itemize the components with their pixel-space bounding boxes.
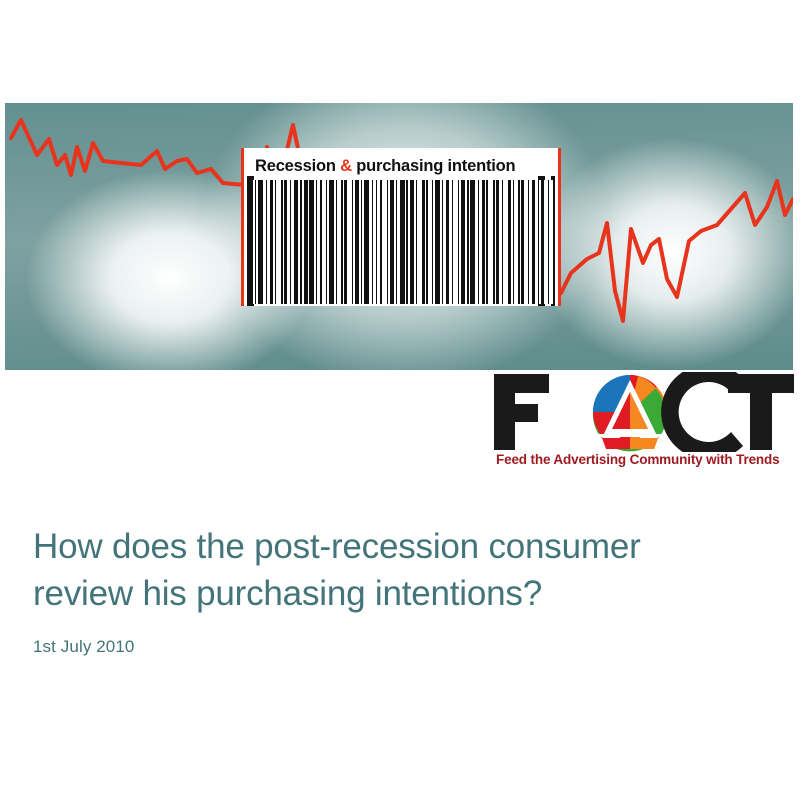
barcode-title-part2: purchasing intention <box>352 157 516 175</box>
page-title: How does the post-recession consumer rev… <box>33 524 763 617</box>
barcode-left-red-edge <box>241 148 244 306</box>
barcode-title-ampersand: & <box>340 157 352 175</box>
logo-letter-t <box>728 374 794 450</box>
page-title-line-2: review his purchasing intentions? <box>33 574 542 613</box>
logo-letter-a-circle <box>593 375 667 451</box>
barcode-bar-group <box>249 180 553 304</box>
fact-logo: Feed the Advertising Community with Tren… <box>490 372 796 476</box>
hero-banner: Recession & purchasing intention <box>5 103 793 370</box>
page-title-line-1: How does the post-recession consumer <box>33 527 641 566</box>
barcode-space <box>549 180 553 304</box>
barcode-right-red-edge <box>558 148 561 306</box>
barcode-title: Recession & purchasing intention <box>255 153 551 179</box>
fact-logo-mark <box>490 372 796 452</box>
barcode-title-part1: Recession <box>255 157 340 175</box>
title-block: How does the post-recession consumer rev… <box>33 524 763 657</box>
fact-logo-tagline: Feed the Advertising Community with Tren… <box>496 452 796 468</box>
logo-letter-f <box>494 374 549 450</box>
trendline-right <box>561 181 793 321</box>
barcode: Recession & purchasing intention <box>241 148 561 306</box>
page-date: 1st July 2010 <box>33 637 763 657</box>
